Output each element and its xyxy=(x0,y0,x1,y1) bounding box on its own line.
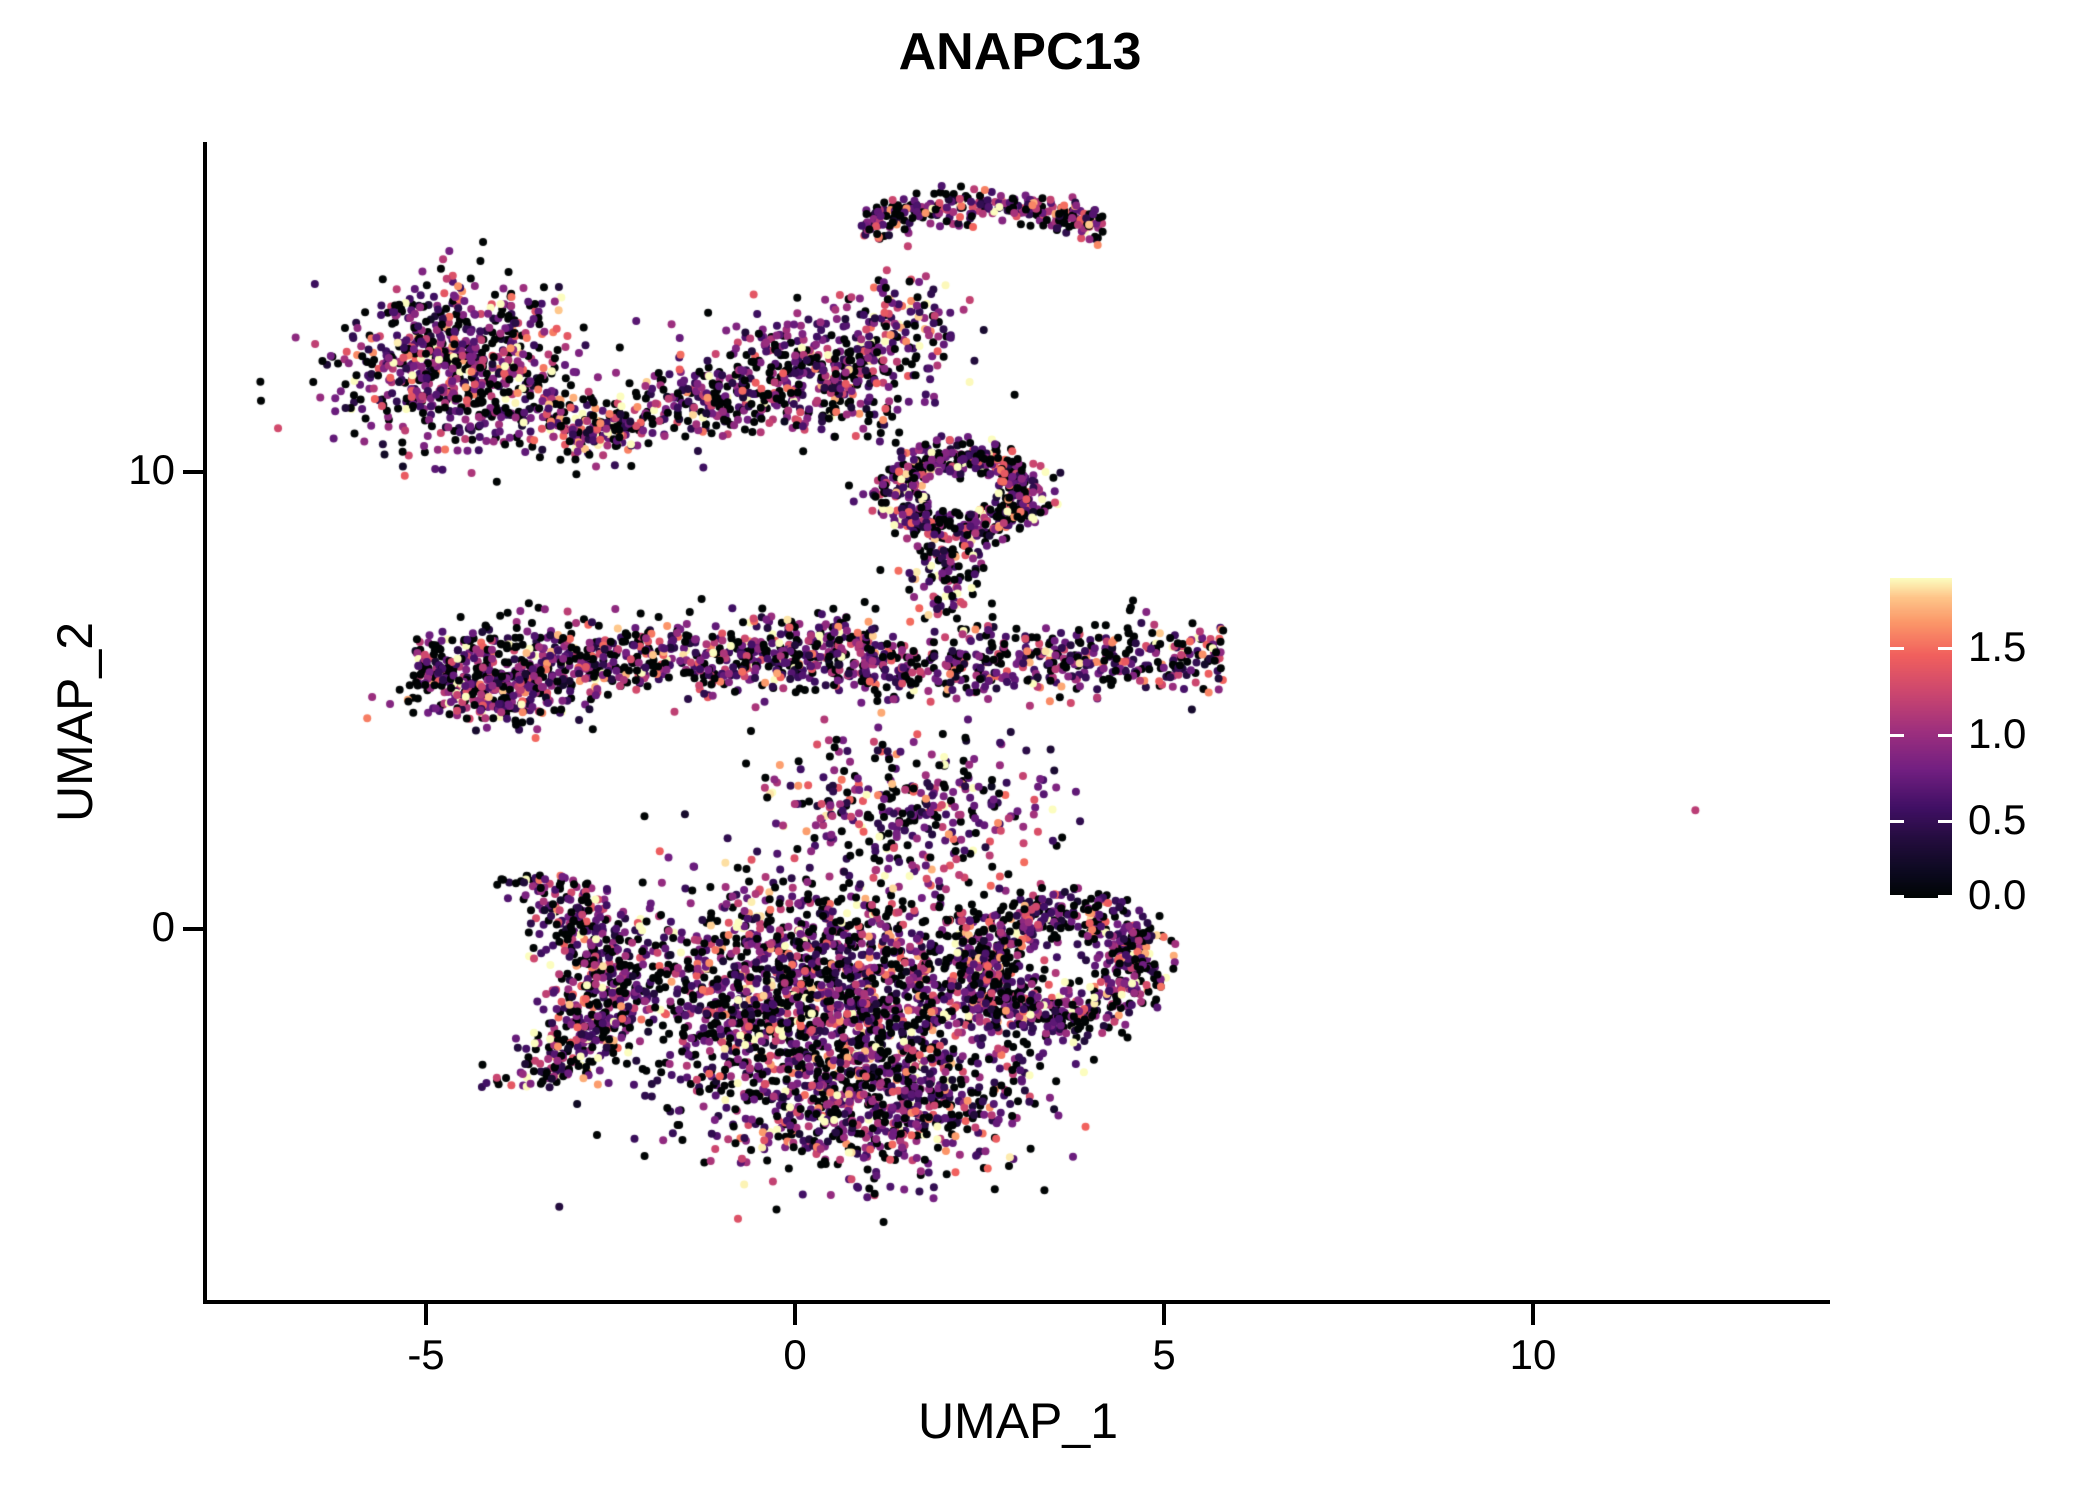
y-tick-mark-0 xyxy=(183,927,204,931)
x-tick-mark-10 xyxy=(1531,1304,1535,1325)
colorbar-tick-0-5 xyxy=(1890,820,1952,823)
page-title: ANAPC13 xyxy=(0,22,2040,82)
colorbar-label-0-5: 0.5 xyxy=(1968,799,2026,841)
colorbar-label-1-0: 1.0 xyxy=(1968,713,2026,755)
x-axis-line xyxy=(203,1300,1830,1304)
y-axis-line xyxy=(203,142,207,1304)
colorbar-tick-1-5 xyxy=(1890,647,1952,650)
y-tick-label-0: 0 xyxy=(152,906,175,948)
colorbar-tick-0-0 xyxy=(1890,895,1952,898)
scatter-plot-canvas xyxy=(206,142,1830,1302)
y-axis-title: UMAP_2 xyxy=(46,342,104,1102)
colorbar-tick-1-0 xyxy=(1890,734,1952,737)
colorbar-gradient xyxy=(1890,578,1952,898)
colorbar-label-1-5: 1.5 xyxy=(1968,626,2026,668)
y-tick-mark-10 xyxy=(183,470,204,474)
x-tick-label-10: 10 xyxy=(1473,1334,1593,1376)
x-axis-title: UMAP_1 xyxy=(206,1392,1830,1450)
x-tick-mark-minus5 xyxy=(424,1304,428,1325)
x-tick-label-minus5: -5 xyxy=(366,1334,486,1376)
colorbar-label-0-0: 0.0 xyxy=(1968,874,2026,916)
x-tick-label-0: 0 xyxy=(735,1334,855,1376)
x-tick-label-5: 5 xyxy=(1104,1334,1224,1376)
y-tick-label-10: 10 xyxy=(128,449,175,491)
umap-feature-plot: ANAPC13 10 0 -5 0 5 10 UMAP_1 UMAP_2 1.5… xyxy=(0,0,2100,1500)
x-tick-mark-5 xyxy=(1162,1304,1166,1325)
x-tick-mark-0 xyxy=(793,1304,797,1325)
